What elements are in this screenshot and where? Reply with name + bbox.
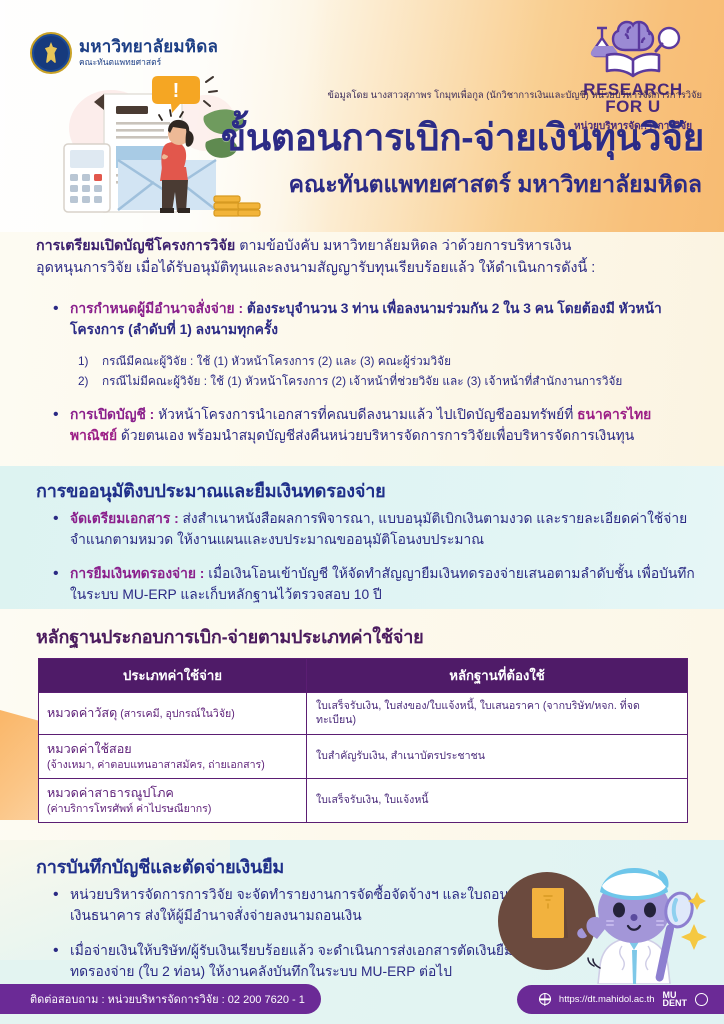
table-header-row: ประเภทค่าใช้จ่าย หลักฐานที่ต้องใช้	[39, 659, 688, 693]
list-item: 1) กรณีมีคณะผู้วิจัย : ใช้ (1) หัวหน้าโค…	[78, 352, 703, 370]
list-item: การเปิดบัญชี : หัวหน้าโครงการนำเอกสารที่…	[50, 404, 698, 447]
website-url[interactable]: https://dt.mahidol.ac.th	[559, 994, 655, 1005]
category-name: หมวดค่าสาธารณูปโภค	[47, 785, 298, 802]
brain-flask-book-icon	[581, 14, 685, 80]
list-item: เมื่อจ่ายเงินให้บริษัท/ผู้รับเงินเรียบร้…	[50, 940, 520, 983]
envelope-document-icon	[530, 886, 568, 942]
section4-bullet-list: หน่วยบริหารจัดการการวิจัย จะจัดทำรายงานก…	[50, 884, 520, 988]
list-item: การกำหนดผู้มีอำนาจสั่งจ่าย : ต้องระบุจำน…	[50, 298, 698, 341]
category-note: (สารเคมี, อุปกรณ์ในวิจัย)	[117, 708, 234, 720]
section4-heading: การบันทึกบัญชีและตัดจ่ายเงินยืม	[36, 852, 284, 881]
globe-icon	[539, 993, 551, 1005]
item-text: กรณีไม่มีคณะผู้วิจัย : ใช้ (1) หัวหน้าโค…	[102, 374, 622, 388]
item-number: 2)	[78, 372, 89, 390]
svg-text:!: !	[173, 80, 180, 102]
section3-heading: หลักฐานประกอบการเบิก-จ่ายตามประเภทค่าใช้…	[36, 622, 423, 651]
poster-root: มหาวิทยาลัยมหิดล คณะทันตแพทยศาสตร์ RESEA…	[0, 0, 724, 1024]
item-number: 1)	[78, 352, 89, 370]
bullet-lead: การกำหนดผู้มีอำนาจสั่งจ่าย :	[70, 301, 243, 316]
faculty-name: คณะทันตแพทยศาสตร์	[79, 57, 218, 68]
bullet-lead: จัดเตรียมเอกสาร :	[70, 511, 179, 526]
bullet-lead: การยืมเงินทดรองจ่าย :	[70, 566, 204, 581]
mudent-logo: MU DENT	[663, 991, 688, 1008]
section2-heading: การขออนุมัติงบประมาณและยืมเงินทดรองจ่าย	[36, 476, 386, 505]
byline: ข้อมูลโดย นางสาวสุภาพร โกมุทเพื่อกูล (นั…	[328, 88, 703, 103]
cell-category: หมวดค่าสาธารณูปโภค (ค่าบริการโทรศัพท์ ค่…	[39, 778, 307, 822]
cell-category: หมวดค่าวัสดุ (สารเคมี, อุปกรณ์ในวิจัย)	[39, 693, 307, 735]
dentist-tooth-mascot-icon	[566, 862, 716, 984]
list-item: จัดเตรียมเอกสาร : ส่งสำเนาหนังสือผลการพิ…	[50, 508, 698, 551]
mudent-seal-icon	[695, 993, 708, 1006]
list-item: 2) กรณีไม่มีคณะผู้วิจัย : ใช้ (1) หัวหน้…	[78, 372, 703, 390]
category-name: หมวดค่าวัสดุ	[47, 706, 117, 720]
bullet-lead: การเปิดบัญชี :	[70, 407, 154, 422]
section1-numbered-list: 1) กรณีมีคณะผู้วิจัย : ใช้ (1) หัวหน้าโค…	[78, 352, 703, 393]
section2-bullet-list: จัดเตรียมเอกสาร : ส่งสำเนาหนังสือผลการพิ…	[50, 508, 698, 611]
cell-evidence: ใบเสร็จรับเงิน, ใบแจ้งหนี้	[307, 778, 688, 822]
footer-website-bar: https://dt.mahidol.ac.th MU DENT	[517, 985, 724, 1014]
footer-contact: ติดต่อสอบถาม : หน่วยบริหารจัดการวิจัย : …	[0, 984, 321, 1014]
table-row: หมวดค่าวัสดุ (สารเคมี, อุปกรณ์ในวิจัย) ใ…	[39, 693, 688, 735]
item-text: กรณีมีคณะผู้วิจัย : ใช้ (1) หัวหน้าโครงก…	[102, 354, 451, 368]
section1-open-account: การเปิดบัญชี : หัวหน้าโครงการนำเอกสารที่…	[50, 404, 698, 452]
list-item: หน่วยบริหารจัดการการวิจัย จะจัดทำรายงานก…	[50, 884, 520, 927]
column-header-evidence: หลักฐานที่ต้องใช้	[307, 659, 688, 693]
table-row: หมวดค่าใช้สอย (จ้างเหมา, ค่าตอบแทนอาสาสม…	[39, 734, 688, 778]
list-item: การยืมเงินทดรองจ่าย : เมื่อเงินโอนเข้าบั…	[50, 563, 698, 606]
section1-bullet-list: การกำหนดผู้มีอำนาจสั่งจ่าย : ต้องระบุจำน…	[50, 298, 698, 346]
mudent-line2: DENT	[663, 998, 688, 1008]
category-name: หมวดค่าใช้สอย	[47, 741, 298, 758]
research-for-u-badge: RESEARCH FOR U หน่วยบริหารจัดการการวิจัย	[570, 14, 696, 134]
expense-evidence-table: ประเภทค่าใช้จ่าย หลักฐานที่ต้องใช้ หมวดค…	[38, 658, 688, 823]
cell-category: หมวดค่าใช้สอย (จ้างเหมา, ค่าตอบแทนอาสาสม…	[39, 734, 307, 778]
page-subtitle: คณะทันตแพทยศาสตร์ มหาวิทยาลัยมหิดล	[289, 172, 702, 197]
intro-lead: การเตรียมเปิดบัญชีโครงการวิจัย	[36, 238, 235, 254]
table-row: หมวดค่าสาธารณูปโภค (ค่าบริการโทรศัพท์ ค่…	[39, 778, 688, 822]
bullet-part1: หัวหน้าโครงการนำเอกสารที่คณบดีลงนามแล้ว …	[154, 407, 577, 422]
category-note: (ค่าบริการโทรศัพท์ ค่าไปรษณียากร)	[47, 802, 298, 816]
university-name: มหาวิทยาลัยมหิดล	[79, 38, 218, 56]
intro-paragraph: การเตรียมเปิดบัญชีโครงการวิจัย ตามข้อบัง…	[36, 236, 696, 279]
cell-evidence: ใบเสร็จรับเงิน, ใบส่งของ/ใบแจ้งหนี้, ใบเ…	[307, 693, 688, 735]
page-title: ขั้นตอนการเบิก-จ่ายเงินทุนวิจัย	[221, 118, 704, 159]
bullet-part2: ด้วยตนเอง พร้อมนำสมุดบัญชีส่งคืนหน่วยบริ…	[117, 428, 634, 443]
category-note: (จ้างเหมา, ค่าตอบแทนอาสาสมัคร, ถ่ายเอกสา…	[47, 758, 298, 772]
intro-line2: อุดหนุนการวิจัย เมื่อได้รับอนุมัติทุนและ…	[36, 260, 595, 276]
column-header-category: ประเภทค่าใช้จ่าย	[39, 659, 307, 693]
intro-rest-line1: ตามข้อบังคับ มหาวิทยาลัยมหิดล ว่าด้วยการ…	[235, 238, 571, 254]
cell-evidence: ใบสำคัญรับเงิน, สำเนาบัตรประชาชน	[307, 734, 688, 778]
